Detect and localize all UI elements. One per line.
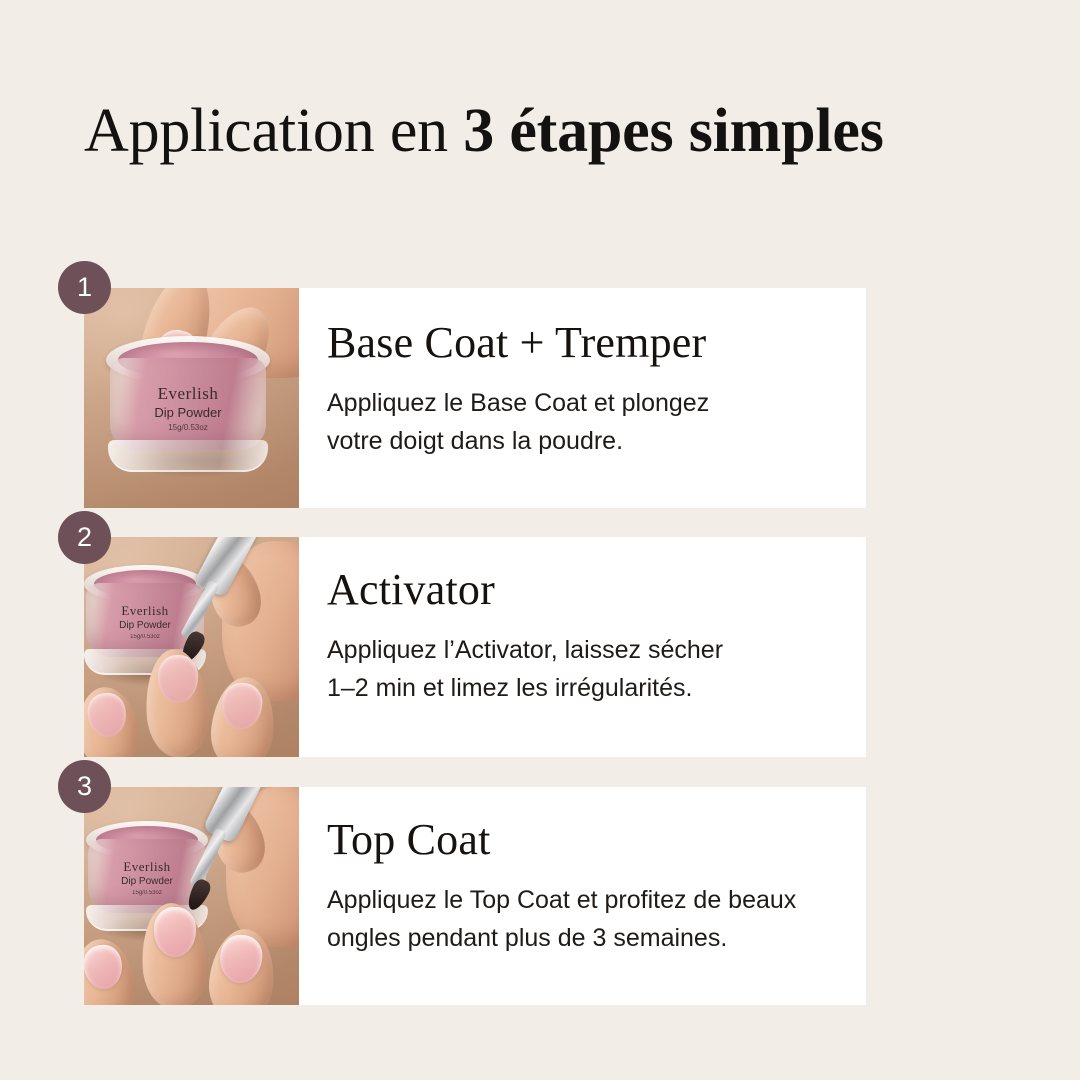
jar-label: Everlish Dip Powder 15g/0.53oz [88, 859, 206, 898]
step-badge-1: 1 [58, 261, 111, 314]
step-heading-1: Base Coat + Tremper [327, 318, 706, 368]
step-card-3: Everlish Dip Powder 15g/0.53oz Top Coat [84, 787, 866, 1005]
step-text-1: Base Coat + Tremper Appliquez le Base Co… [327, 288, 866, 508]
step-heading-2: Activator [327, 565, 495, 615]
step-text-3: Top Coat Appliquez le Top Coat et profit… [327, 787, 866, 1005]
page-title-lead: Application en [84, 97, 463, 165]
step-photo-1: Everlish Dip Powder 15g/0.53oz [84, 288, 299, 508]
jar-label: Everlish Dip Powder 15g/0.53oz [110, 384, 266, 434]
step-body-3: Appliquez le Top Coat et profitez de bea… [327, 881, 796, 957]
poster-canvas: Application en 3 étapes simples Everlish [0, 0, 1080, 1080]
step-badge-number-1: 1 [77, 274, 92, 301]
step-badge-number-3: 3 [77, 773, 92, 800]
label-brand: Everlish [110, 384, 266, 404]
page-title-emphasis: 3 étapes simples [463, 97, 883, 165]
step-heading-3: Top Coat [327, 815, 491, 865]
step-photo-3: Everlish Dip Powder 15g/0.53oz [84, 787, 299, 1005]
step-badge-2: 2 [58, 511, 111, 564]
step-photo-2: Everlish Dip Powder 15g/0.53oz [84, 537, 299, 757]
step-text-2: Activator Appliquez l’Activator, laissez… [327, 537, 866, 757]
step-body-2: Appliquez l’Activator, laissez sécher 1–… [327, 631, 723, 707]
step-body-1: Appliquez le Base Coat et plongez votre … [327, 384, 709, 460]
label-brand: Everlish [88, 859, 206, 875]
label-subtitle: Dip Powder [110, 404, 266, 421]
step-badge-3: 3 [58, 760, 111, 813]
step-badge-number-2: 2 [77, 524, 92, 551]
label-size: 15g/0.53oz [110, 421, 266, 434]
step-card-1: Everlish Dip Powder 15g/0.53oz Base Coat… [84, 288, 866, 508]
jar-glass-base [108, 440, 268, 472]
step-card-2: Everlish Dip Powder 15g/0.53oz [84, 537, 866, 757]
page-title: Application en 3 étapes simples [84, 96, 1004, 166]
label-subtitle: Dip Powder [88, 875, 206, 888]
label-brand: Everlish [86, 603, 204, 619]
